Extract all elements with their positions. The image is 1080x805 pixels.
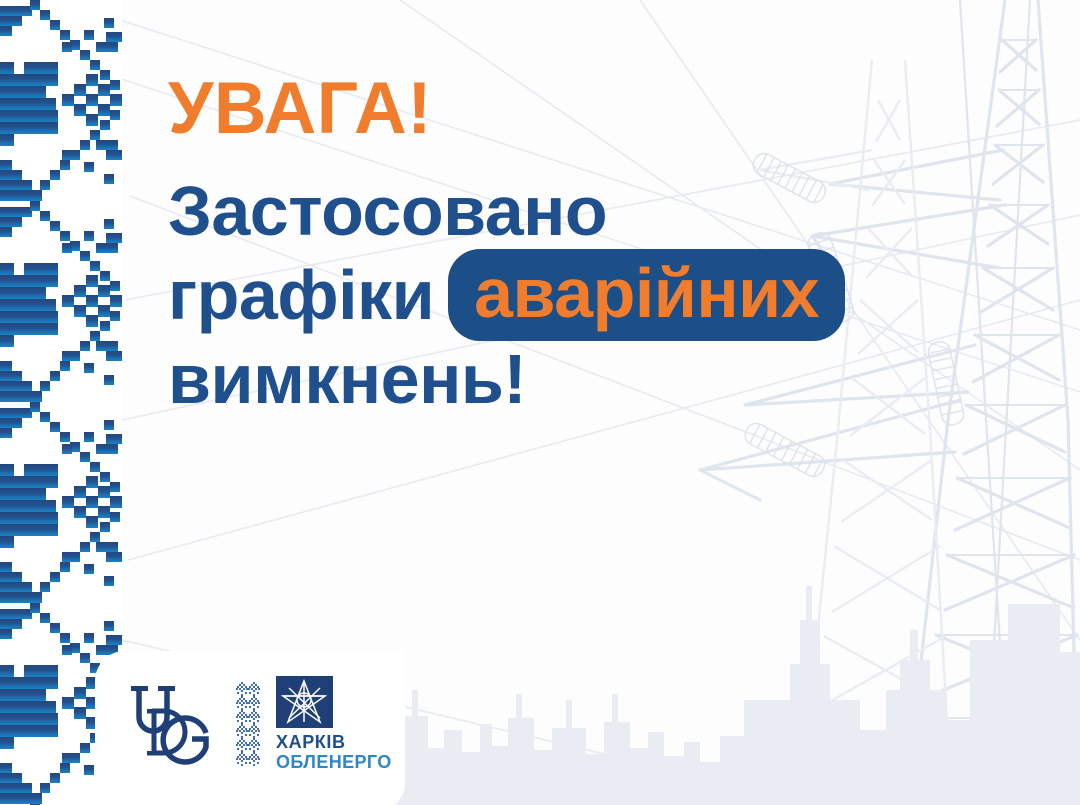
- headline-line-3: вимкнень!: [168, 341, 1068, 417]
- udg-logo: [128, 681, 220, 767]
- headline-block: УВАГА! Застосовано графіки аварійних вим…: [168, 72, 1068, 418]
- attention-heading: УВАГА!: [168, 72, 1068, 145]
- kho-line-1: ХАРКІВ: [276, 733, 392, 752]
- logo-row: ХАРКІВ ОБЛЕНЕРГО: [128, 672, 392, 776]
- poster-canvas: УВАГА! Застосовано графіки аварійних вим…: [0, 0, 1080, 805]
- emergency-outages-pill: аварійних: [448, 249, 845, 341]
- ornament-divider-strip: [236, 682, 260, 766]
- main-headline: Застосовано графіки аварійних вимкнень!: [168, 173, 1068, 418]
- kharkivoblenergo-star-mark: [276, 676, 333, 728]
- headline-line-1: Застосовано: [168, 173, 1068, 249]
- kharkivoblenergo-wordmark: ХАРКІВ ОБЛЕНЕРГО: [276, 733, 392, 771]
- kharkivoblenergo-logo: ХАРКІВ ОБЛЕНЕРГО: [276, 676, 392, 771]
- headline-line-2: графіки аварійних: [168, 249, 1068, 341]
- kho-line-2: ОБЛЕНЕРГО: [276, 753, 392, 772]
- headline-line-2-prefix: графіки: [168, 257, 434, 333]
